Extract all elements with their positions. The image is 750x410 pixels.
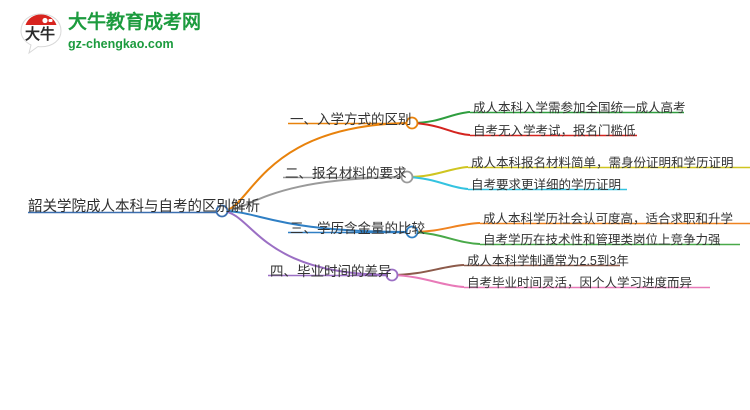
leaf-connector-1-1 [412, 112, 470, 123]
leaf-label-1-1[interactable]: 成人本科入学需参加全国统一成人高考 [473, 97, 686, 116]
leaf-label-4-1[interactable]: 成人本科学制通常为2.5到3年 [467, 250, 629, 269]
leaf-connector-2-1 [407, 167, 468, 177]
leaf-connector-1-2 [412, 123, 470, 135]
leaf-label-4-2[interactable]: 自考毕业时间灵活，因个人学习进度而异 [467, 272, 692, 291]
leaf-connector-4-2 [392, 275, 464, 287]
root-node-label[interactable]: 韶关学院成人本科与自考的区别解析 [28, 195, 260, 216]
branch-label-1[interactable]: 一、入学方式的区别 [290, 108, 412, 128]
leaf-label-2-2[interactable]: 自考要求更详细的学历证明 [471, 174, 621, 193]
branch-label-4[interactable]: 四、毕业时间的差异 [270, 260, 392, 280]
leaf-label-3-1[interactable]: 成人本科学历社会认可度高，适合求职和升学 [483, 208, 733, 227]
leaf-label-2-1[interactable]: 成人本科报名材料简单，需身份证明和学历证明 [471, 152, 734, 171]
leaf-connector-2-2 [407, 177, 468, 189]
branch-label-2[interactable]: 二、报名材料的要求 [285, 162, 407, 182]
leaf-label-3-2[interactable]: 自考学历在技术性和管理类岗位上竞争力强 [483, 229, 721, 248]
branch-label-3[interactable]: 三、学历含金量的比较 [290, 217, 425, 237]
leaf-label-1-2[interactable]: 自考无入学考试，报名门槛低 [473, 120, 636, 139]
leaf-connector-4-1 [392, 265, 464, 275]
